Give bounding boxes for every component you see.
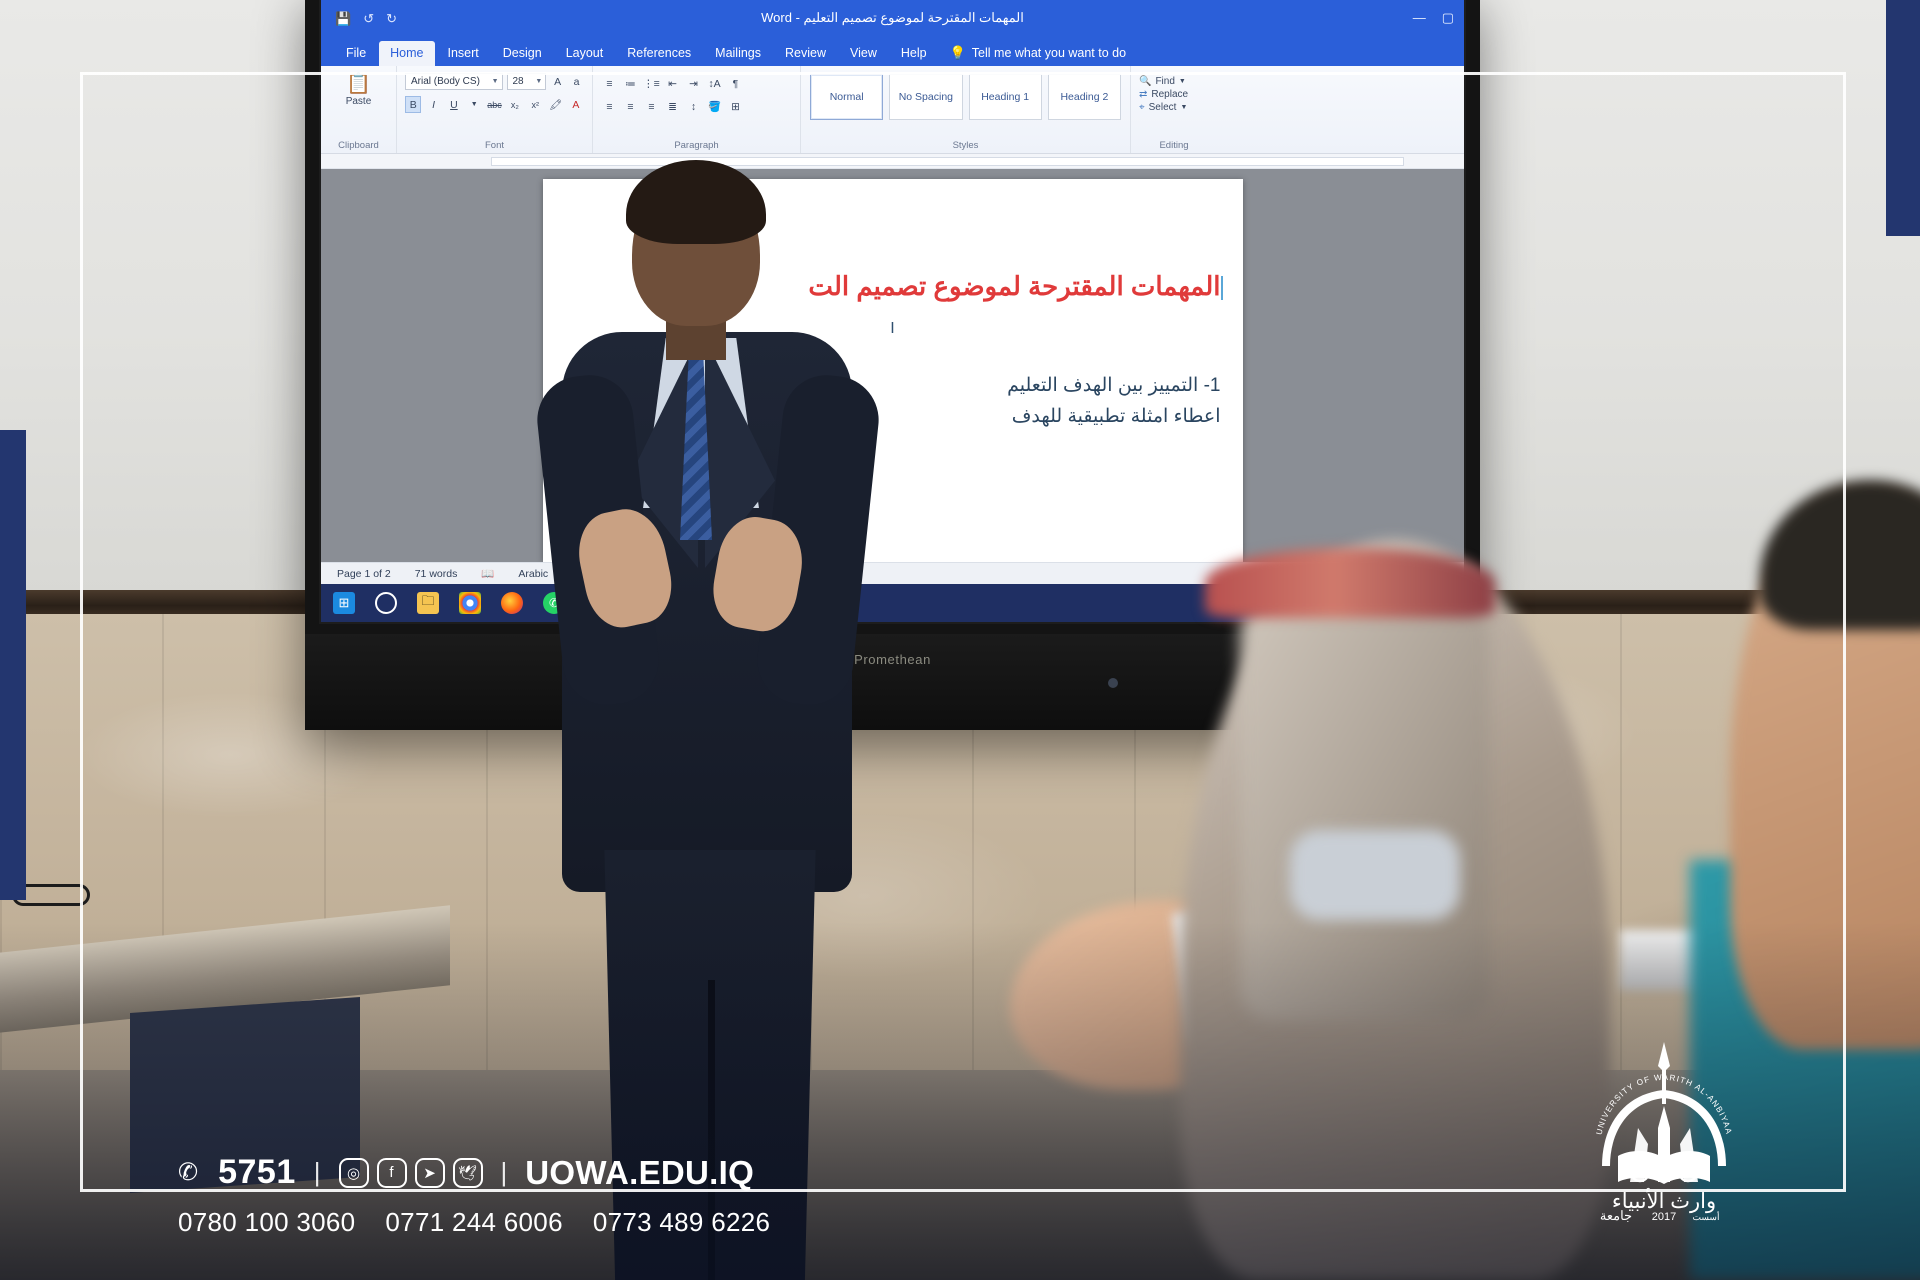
align-right-icon[interactable]: ≡ [643, 98, 660, 115]
multilevel-list-icon[interactable]: ⋮≡ [643, 75, 660, 92]
superscript-button[interactable]: x² [527, 96, 543, 113]
tab-review[interactable]: Review [774, 41, 837, 66]
audience-hijab-fold [1240, 600, 1490, 1020]
word-title-bar: 💾 ↺ ↻ المهمات المقترحة لموضوع تصميم التع… [321, 0, 1464, 36]
document-title: المهمات المقترحة لموضوع تصميم التعليم - … [321, 10, 1464, 26]
font-size-box[interactable]: 28 ▼ [507, 73, 547, 90]
editing-group-label: Editing [1131, 140, 1217, 151]
decrease-indent-icon[interactable]: ⇤ [664, 75, 681, 92]
ribbon-group-styles: Normal No Spacing Heading 1 Heading 2 St… [801, 66, 1131, 153]
paste-icon: 📋 [346, 74, 371, 94]
word-count[interactable]: 71 words [415, 568, 458, 580]
grow-font-icon[interactable]: A [550, 73, 565, 90]
logo-artwork: UNIVERSITY OF WARITH AL-ANBIYAA وارث الأ… [1578, 1032, 1750, 1222]
tab-mailings[interactable]: Mailings [704, 41, 772, 66]
ribbon-group-clipboard: 📋 Paste Clipboard [321, 66, 397, 153]
select-label: Select [1149, 102, 1177, 113]
style-heading-1[interactable]: Heading 1 [969, 74, 1042, 120]
minimize-icon[interactable]: — [1413, 10, 1426, 26]
tab-insert[interactable]: Insert [437, 41, 490, 66]
tell-me-label: Tell me what you want to do [972, 46, 1126, 60]
chevron-down-icon[interactable]: ▼ [1180, 104, 1187, 111]
strikethrough-button[interactable]: abc [486, 96, 502, 113]
window-controls[interactable]: — ▢ [1413, 10, 1454, 26]
tab-help[interactable]: Help [890, 41, 938, 66]
paste-label: Paste [346, 96, 372, 107]
cortana-icon[interactable] [375, 592, 397, 614]
tell-me-search[interactable]: 💡 Tell me what you want to do [950, 45, 1126, 66]
logo-arabic-university: جامعة [1600, 1208, 1632, 1222]
windows-start-icon[interactable]: ⊞ [333, 592, 355, 614]
search-icon: 🔍 [1139, 76, 1151, 87]
tab-file[interactable]: File [335, 41, 377, 66]
numbering-icon[interactable]: ≔ [622, 75, 639, 92]
font-size-value: 28 [513, 76, 524, 87]
italic-button[interactable]: I [425, 96, 441, 113]
select-button[interactable]: ⌖ Select ▼ [1139, 101, 1209, 114]
shrink-font-icon[interactable]: a [569, 73, 584, 90]
page-indicator[interactable]: Page 1 of 2 [337, 568, 391, 580]
left-accent-bar [0, 430, 26, 900]
chevron-down-icon[interactable]: ▼ [492, 78, 499, 85]
text-cursor [1221, 276, 1223, 300]
style-heading-2[interactable]: Heading 2 [1048, 74, 1121, 120]
chevron-down-icon[interactable]: ▼ [1179, 78, 1186, 85]
audience-face-mask [1290, 830, 1460, 920]
bullets-icon[interactable]: ≡ [601, 75, 618, 92]
ribbon-tabs[interactable]: File Home Insert Design Layout Reference… [321, 36, 1464, 66]
background-table-leg [130, 997, 360, 1193]
tab-references[interactable]: References [616, 41, 702, 66]
presenter-person [520, 150, 920, 1280]
increase-indent-icon[interactable]: ⇥ [685, 75, 702, 92]
display-indicator-light [1108, 678, 1118, 688]
find-label: Find [1155, 76, 1174, 87]
file-explorer-icon[interactable]: 🗀 [417, 592, 439, 614]
cursor-icon: ⌖ [1139, 102, 1145, 113]
shading-icon[interactable]: 🪣 [706, 98, 723, 115]
font-name-value: Arial (Body CS) [411, 76, 480, 87]
bold-button[interactable]: B [405, 96, 421, 113]
audience-hijab-band [1205, 548, 1495, 618]
ribbon-group-editing: 🔍 Find ▼ ⇄ Replace ⌖ Select [1131, 66, 1217, 153]
underline-button[interactable]: U [446, 96, 462, 113]
restore-icon[interactable]: ▢ [1442, 10, 1454, 26]
underline-dropdown-icon[interactable]: ▼ [466, 96, 482, 113]
style-no-spacing[interactable]: No Spacing [889, 74, 962, 120]
tab-layout[interactable]: Layout [555, 41, 615, 66]
logo-founded-label: أسست [1693, 1210, 1720, 1222]
show-marks-icon[interactable]: ¶ [727, 75, 744, 92]
ribbon-group-font: Arial (Body CS) ▼ 28 ▼ A a [397, 66, 593, 153]
right-accent-bar [1886, 0, 1920, 236]
replace-button[interactable]: ⇄ Replace [1139, 88, 1209, 101]
presenter-hair [626, 160, 766, 244]
lightbulb-icon: 💡 [950, 45, 966, 61]
chevron-down-icon[interactable]: ▼ [535, 78, 542, 85]
ribbon-home[interactable]: 📋 Paste Clipboard Arial (Body CS) ▼ [321, 66, 1464, 154]
sort-icon[interactable]: ↕A [706, 75, 723, 92]
replace-icon: ⇄ [1139, 89, 1147, 100]
screenshot-root: 💾 ↺ ↻ المهمات المقترحة لموضوع تصميم التع… [0, 0, 1920, 1280]
style-normal[interactable]: Normal [810, 74, 883, 120]
paste-button[interactable]: 📋 Paste [336, 70, 382, 107]
tab-view[interactable]: View [839, 41, 888, 66]
clipboard-group-label: Clipboard [321, 140, 396, 151]
subscript-button[interactable]: x₂ [507, 96, 523, 113]
font-color-icon[interactable]: A [568, 96, 584, 113]
tab-home[interactable]: Home [379, 41, 434, 66]
line-spacing-icon[interactable]: ↕ [685, 98, 702, 115]
ribbon-group-paragraph: ≡ ≔ ⋮≡ ⇤ ⇥ ↕A ¶ ≡ ≡ ≡ [593, 66, 801, 153]
tab-design[interactable]: Design [492, 41, 553, 66]
logo-founded-year: 2017 [1652, 1211, 1676, 1222]
justify-icon[interactable]: ≣ [664, 98, 681, 115]
find-button[interactable]: 🔍 Find ▼ [1139, 75, 1209, 88]
borders-icon[interactable]: ⊞ [727, 98, 744, 115]
replace-label: Replace [1151, 89, 1188, 100]
proofing-icon[interactable]: 📖 [481, 567, 494, 580]
presenter-leg-gap [708, 980, 715, 1280]
align-center-icon[interactable]: ≡ [622, 98, 639, 115]
font-name-box[interactable]: Arial (Body CS) ▼ [405, 73, 503, 90]
chrome-icon[interactable] [459, 592, 481, 614]
text-highlight-icon[interactable]: 🖍 [547, 96, 563, 113]
university-logo: UNIVERSITY OF WARITH AL-ANBIYAA وارث الأ… [1578, 1032, 1750, 1222]
align-left-icon[interactable]: ≡ [601, 98, 618, 115]
